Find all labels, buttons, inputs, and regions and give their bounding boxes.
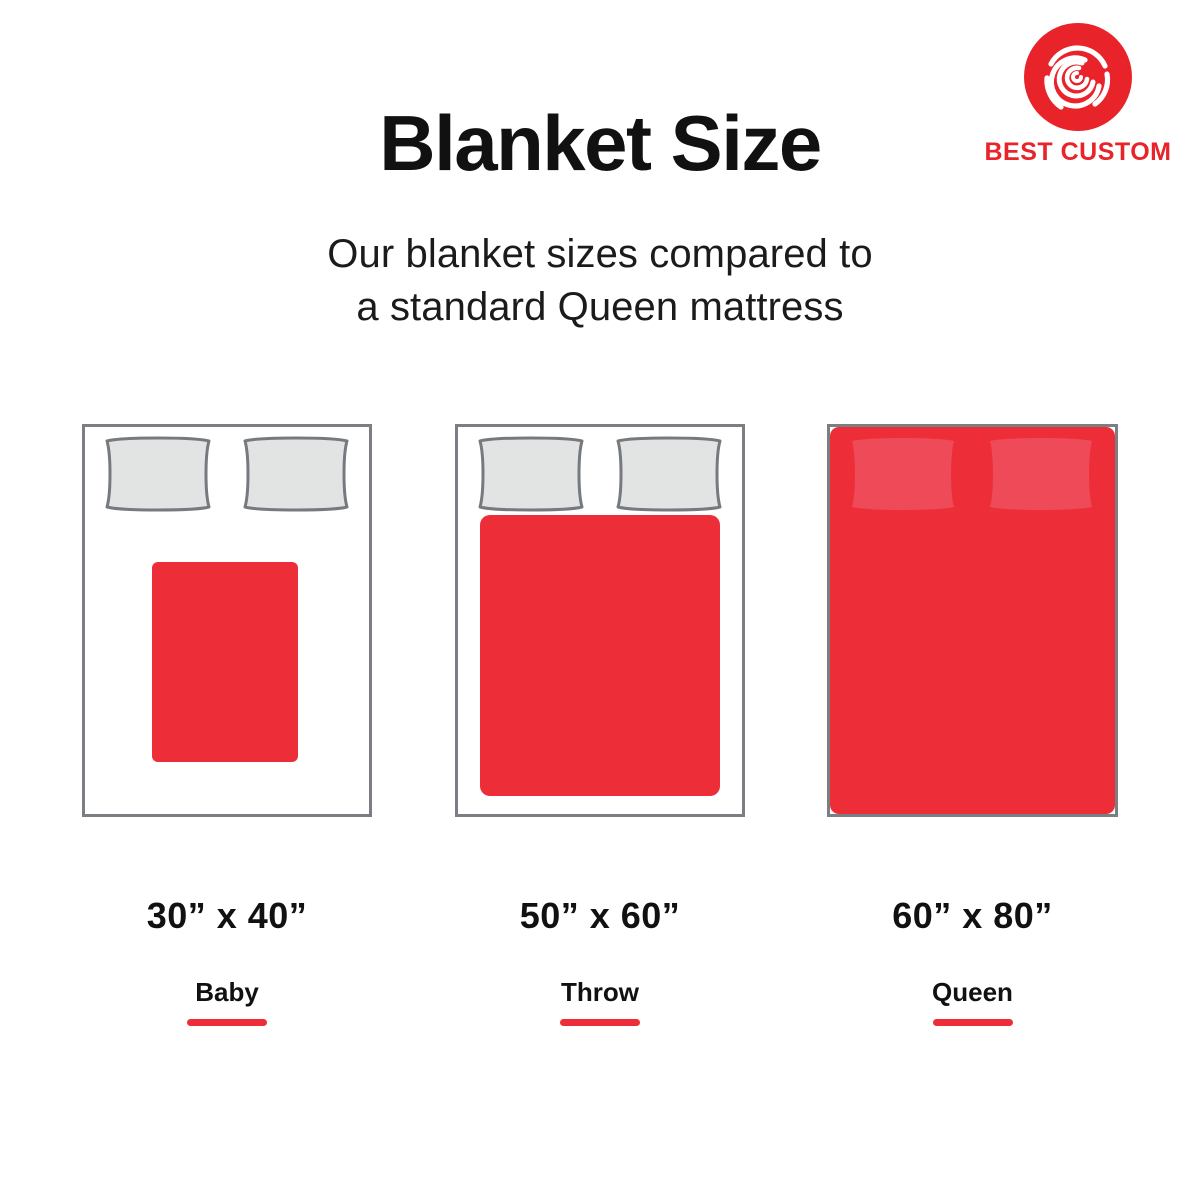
- caption-baby: 30” x 40” Baby: [82, 898, 372, 1026]
- subtitle-line-1: Our blanket sizes compared to: [0, 228, 1200, 281]
- caption-name-baby: Baby: [82, 979, 372, 1005]
- bed-comparison-group: [0, 424, 1200, 818]
- caption-throw: 50” x 60” Throw: [455, 898, 745, 1026]
- blanket-size-infographic: { "brand": { "name": "BEST CUSTOM", "mar…: [0, 0, 1200, 1200]
- pillow-left-baby: [107, 438, 209, 510]
- caption-dims-queen: 60” x 80”: [827, 898, 1118, 934]
- caption-rule-baby: [187, 1019, 267, 1026]
- blanket-baby: [152, 562, 298, 762]
- pillow-left-throw: [480, 438, 582, 510]
- page-subtitle: Our blanket sizes compared to a standard…: [0, 228, 1200, 334]
- pillow-right-queen: [990, 438, 1092, 510]
- pillow-left-queen: [852, 438, 954, 510]
- caption-name-throw: Throw: [455, 979, 745, 1005]
- caption-rule-queen: [933, 1019, 1013, 1026]
- page-title: Blanket Size: [0, 104, 1200, 182]
- bed-diagram-baby: [82, 424, 372, 817]
- bed-diagram-throw: [455, 424, 745, 817]
- caption-queen: 60” x 80” Queen: [827, 898, 1118, 1026]
- pillow-right-baby: [245, 438, 347, 510]
- caption-name-queen: Queen: [827, 979, 1118, 1005]
- subtitle-line-2: a standard Queen mattress: [0, 281, 1200, 334]
- caption-dims-baby: 30” x 40”: [82, 898, 372, 934]
- caption-group: 30” x 40” Baby 50” x 60” Throw 60” x 80”…: [0, 898, 1200, 1038]
- pillow-right-throw: [618, 438, 720, 510]
- bed-diagram-queen: [827, 424, 1118, 817]
- blanket-throw: [480, 515, 720, 796]
- caption-rule-throw: [560, 1019, 640, 1026]
- caption-dims-throw: 50” x 60”: [455, 898, 745, 934]
